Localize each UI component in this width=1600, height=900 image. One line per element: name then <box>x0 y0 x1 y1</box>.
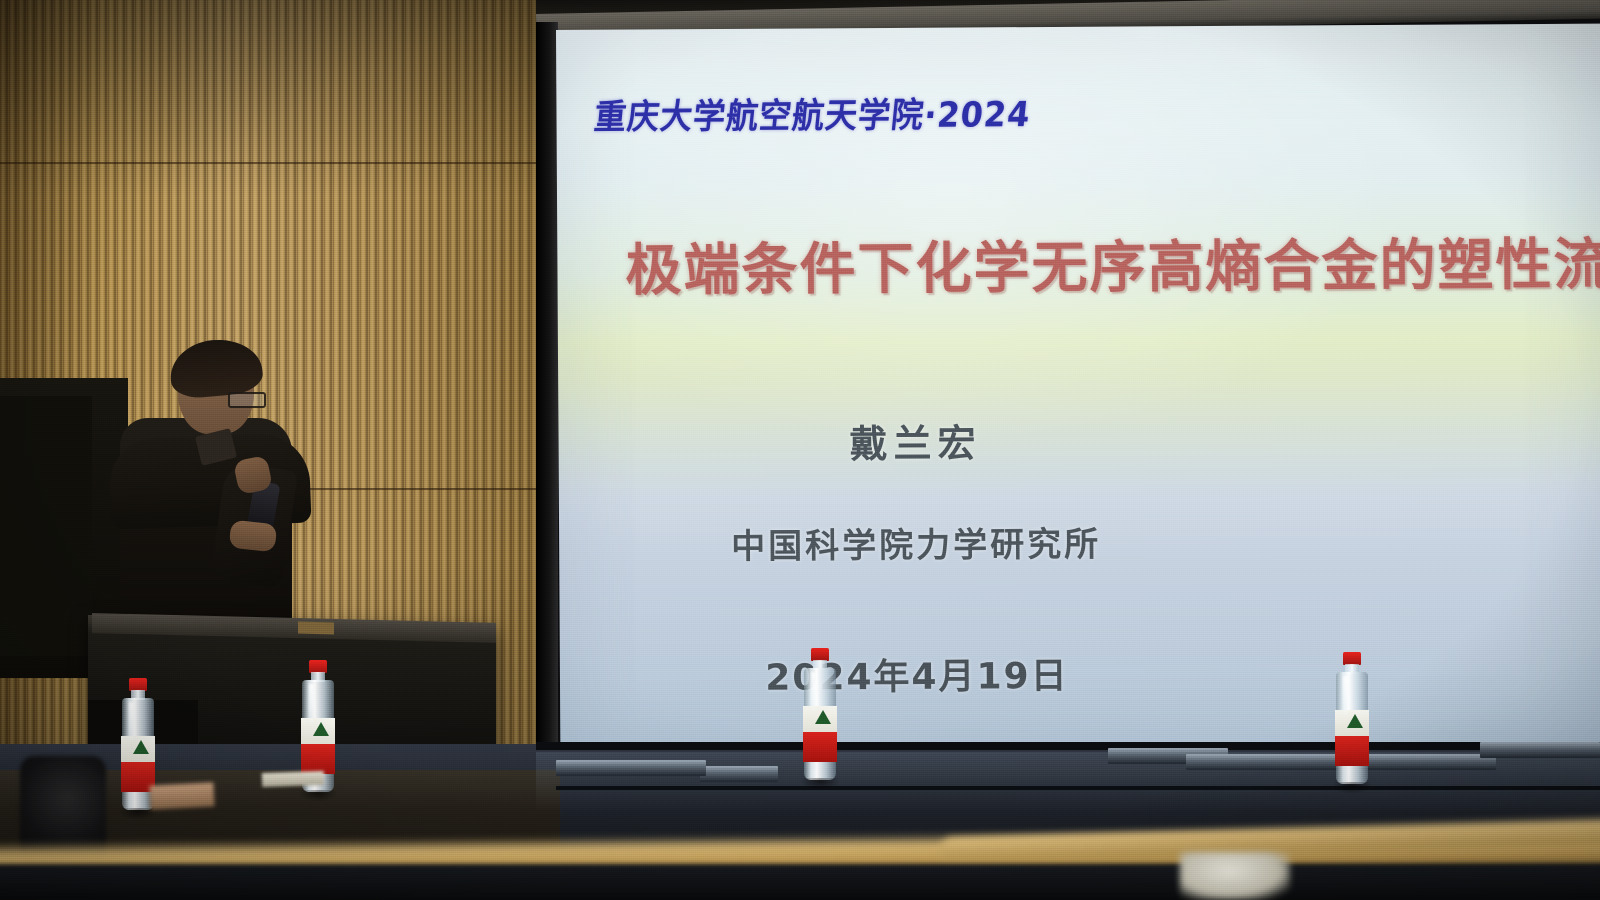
slide-title-text: 极端条件下化学无序高熵合金的塑性流动与断 <box>625 218 1600 306</box>
name-placard <box>700 766 778 782</box>
bottle-highlight <box>811 672 816 712</box>
bottle-shadow <box>298 790 338 802</box>
foreground-paper <box>149 782 214 809</box>
mountain-logo-icon <box>133 740 149 754</box>
bottle-shadow <box>118 808 158 820</box>
bottle-shadow <box>800 778 840 790</box>
presenter <box>110 340 320 640</box>
projected-slide: 重庆大学航空航天学院·2024 极端条件下化学无序高熵合金的塑性流动与断 戴兰宏… <box>556 24 1600 775</box>
bottle-label-red <box>301 744 335 774</box>
foreground-paper <box>262 771 324 787</box>
bottle-highlight <box>1343 676 1348 716</box>
bottle-highlight <box>129 702 134 742</box>
foreground-white-object <box>1180 852 1290 900</box>
bottle-shadow <box>1332 782 1372 794</box>
presentation-photo: 重庆大学航空航天学院·2024 极端条件下化学无序高熵合金的塑性流动与断 戴兰宏… <box>0 0 1600 900</box>
lectern-notch <box>298 622 334 635</box>
table-seam <box>556 786 1600 790</box>
slide-author-name: 戴兰宏 <box>558 409 1600 470</box>
wall-seam <box>0 162 560 164</box>
glasses-icon <box>228 392 266 408</box>
presenter-hand-lower <box>229 520 278 553</box>
dark-wall-panel-inner <box>0 396 92 656</box>
mountain-logo-icon <box>1347 714 1363 728</box>
table-front-edge <box>536 742 1600 750</box>
foreground-dark-bar <box>0 864 1600 900</box>
mountain-logo-icon <box>815 710 831 724</box>
bottle-highlight <box>309 684 314 724</box>
bottle-label-red <box>803 732 837 762</box>
mountain-logo-icon <box>313 722 329 736</box>
slide-header-text: 重庆大学航空航天学院·2024 <box>592 87 1033 139</box>
name-placard <box>1480 742 1600 758</box>
screen-left-edge <box>536 22 558 782</box>
slide-date: 2024年4月19日 <box>560 644 1600 702</box>
name-placard <box>556 760 706 776</box>
slide-affiliation: 中国科学院力学研究所 <box>559 514 1600 569</box>
bottle-label-red <box>1335 736 1369 766</box>
